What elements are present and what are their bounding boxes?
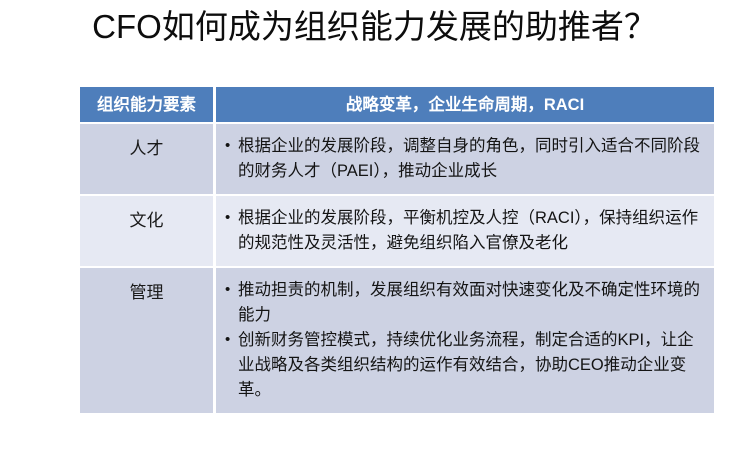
table-row: 人才 根据企业的发展阶段，调整自身的角色，同时引入适合不同阶段的财务人才（PAE… <box>80 124 714 196</box>
table-header-factor: 组织能力要素 <box>80 87 216 124</box>
capability-table: 组织能力要素 战略变革，企业生命周期，RACI 人才 根据企业的发展阶段，调整自… <box>80 87 714 413</box>
table-row: 管理 推动担责的机制，发展组织有效面对快速变化及不确定性环境的能力 创新财务管控… <box>80 268 714 413</box>
table-row: 文化 根据企业的发展阶段，平衡机控及人控（RACI），保持组织运作的规范性及灵活… <box>80 196 714 268</box>
row-detail-cell: 推动担责的机制，发展组织有效面对快速变化及不确定性环境的能力 创新财务管控模式，… <box>216 268 714 413</box>
row-factor-label: 文化 <box>80 196 216 268</box>
page-title: CFO如何成为组织能力发展的助推者？ <box>0 4 749 50</box>
row-detail-cell: 根据企业的发展阶段，平衡机控及人控（RACI），保持组织运作的规范性及灵活性，避… <box>216 196 714 268</box>
slide-canvas: CFO如何成为组织能力发展的助推者？ 组织能力要素 战略变革，企业生命周期，RA… <box>0 0 749 473</box>
row-factor-label: 人才 <box>80 124 216 196</box>
list-item: 根据企业的发展阶段，平衡机控及人控（RACI），保持组织运作的规范性及灵活性，避… <box>224 206 708 256</box>
list-item: 创新财务管控模式，持续优化业务流程，制定合适的KPI，让企业战略及各类组织结构的… <box>224 328 708 403</box>
bullet-list: 根据企业的发展阶段，平衡机控及人控（RACI），保持组织运作的规范性及灵活性，避… <box>224 206 708 256</box>
bullet-list: 根据企业的发展阶段，调整自身的角色，同时引入适合不同阶段的财务人才（PAEI），… <box>224 134 708 184</box>
row-factor-label: 管理 <box>80 268 216 413</box>
list-item: 根据企业的发展阶段，调整自身的角色，同时引入适合不同阶段的财务人才（PAEI），… <box>224 134 708 184</box>
bullet-list: 推动担责的机制，发展组织有效面对快速变化及不确定性环境的能力 创新财务管控模式，… <box>224 278 708 403</box>
table-header-row: 组织能力要素 战略变革，企业生命周期，RACI <box>80 87 714 124</box>
row-detail-cell: 根据企业的发展阶段，调整自身的角色，同时引入适合不同阶段的财务人才（PAEI），… <box>216 124 714 196</box>
list-item: 推动担责的机制，发展组织有效面对快速变化及不确定性环境的能力 <box>224 278 708 328</box>
table-header-detail: 战略变革，企业生命周期，RACI <box>216 87 714 124</box>
